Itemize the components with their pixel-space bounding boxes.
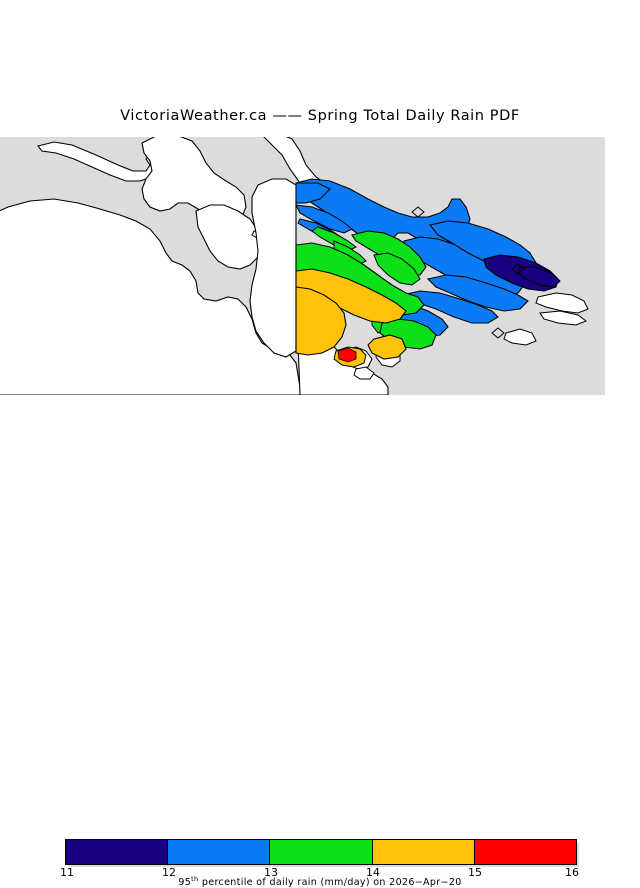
colorbar-caption: 95th percentile of daily rain (mm/day) o…	[0, 875, 640, 888]
colorbar-segment-11-12[interactable]	[66, 840, 168, 864]
caption-rest: percentile of daily rain (mm/day) on 202…	[199, 877, 462, 888]
colorbar-region: 11 12 13 14 15 16 95th percentile of dai…	[0, 415, 640, 480]
colorbar-segment-13-14[interactable]	[270, 840, 372, 864]
page-title: VictoriaWeather.ca —— Spring Total Daily…	[0, 108, 640, 124]
colorbar-segment-12-13[interactable]	[168, 840, 270, 864]
colorbar[interactable]	[65, 839, 577, 865]
map-svg	[0, 137, 605, 395]
caption-superscript: th	[191, 875, 198, 883]
map-panel	[0, 137, 605, 395]
page-root: VictoriaWeather.ca —— Spring Total Daily…	[0, 0, 640, 480]
colorbar-segment-14-15[interactable]	[373, 840, 475, 864]
land-island-south-white	[250, 179, 296, 357]
colorbar-segment-15-16[interactable]	[475, 840, 576, 864]
caption-prefix: 95	[178, 877, 191, 888]
